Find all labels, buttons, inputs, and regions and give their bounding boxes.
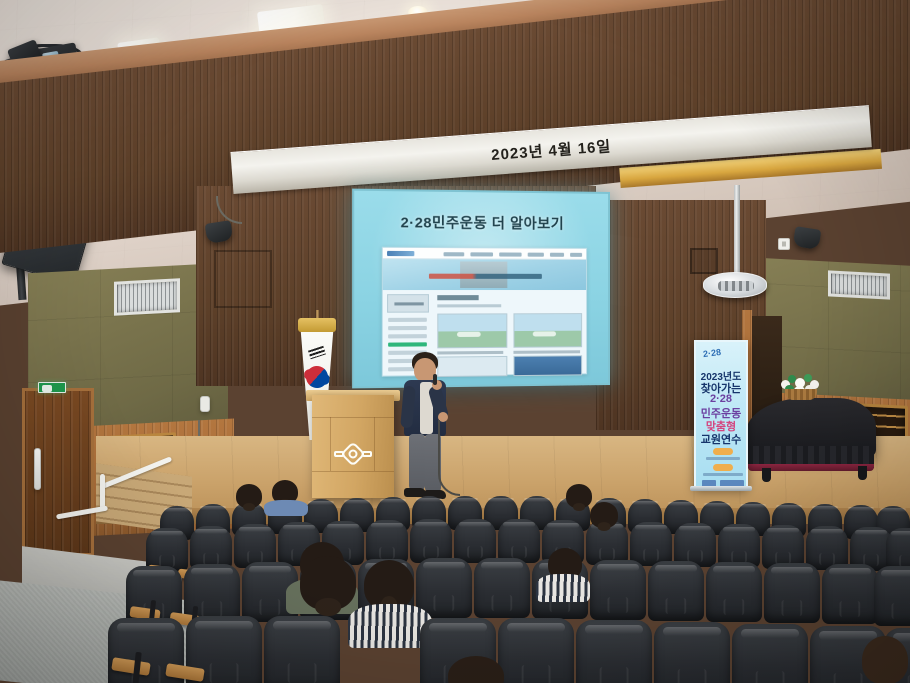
seat[interactable]	[654, 622, 730, 683]
standee-banner: 2·28 2023년도 찾아가는 2·28 민주운동 맞춤형 교원연수	[694, 340, 748, 488]
site-nav-item	[444, 252, 465, 256]
audience-shoulders	[264, 500, 308, 516]
site-hero-banner	[383, 259, 586, 290]
hero-headline	[429, 274, 542, 279]
side-door-left[interactable]	[22, 388, 94, 556]
presenter-leg-left	[409, 434, 425, 490]
site-sidebar-item	[388, 318, 427, 322]
site-bottom-card	[513, 355, 582, 376]
banner-mark: 2·28	[702, 347, 721, 359]
site-breadcrumb	[437, 304, 501, 307]
banner-line-3: 2·28	[696, 393, 746, 405]
banner-info-line	[703, 473, 743, 476]
site-sidebar-card	[387, 294, 429, 313]
audience-member	[236, 484, 262, 508]
seat[interactable]	[410, 519, 452, 563]
seat[interactable]	[590, 560, 646, 620]
banner-label-pill	[713, 464, 733, 471]
banner-info-line	[706, 457, 740, 460]
seat[interactable]	[474, 558, 530, 618]
microphone-cord	[438, 420, 460, 496]
site-logo-icon	[387, 251, 414, 256]
site-nav-item	[470, 252, 493, 256]
audience-member	[566, 484, 592, 508]
projection-screen: 2·28민주운동 더 알아보기	[352, 189, 610, 389]
site-content-heading	[437, 295, 478, 300]
flag-fringe	[298, 318, 336, 332]
banner-line-6: 교원연수	[696, 431, 746, 447]
podium-emblem-icon	[334, 443, 372, 465]
site-nav-item	[499, 252, 521, 256]
wall-outlet[interactable]	[778, 238, 790, 250]
audience-member	[590, 502, 618, 528]
podium-seam	[330, 417, 331, 471]
ceiling-projector	[703, 272, 767, 298]
wall-access-panel	[690, 248, 718, 274]
stair-handrail-post[interactable]	[100, 474, 105, 510]
seat[interactable]	[416, 558, 472, 618]
hvac-vent-left	[114, 278, 180, 315]
seat[interactable]	[648, 561, 704, 621]
flower-basket	[779, 372, 823, 400]
wall-bracket	[200, 396, 210, 412]
projector-mount-pole	[734, 185, 740, 275]
audience-member-foreground	[862, 636, 908, 683]
seat[interactable]	[498, 519, 540, 563]
site-nav-item	[528, 253, 544, 257]
podium	[312, 395, 394, 498]
seat[interactable]	[454, 519, 496, 563]
slide-title: 2·28민주운동 더 알아보기	[354, 211, 608, 234]
seat[interactable]	[706, 562, 762, 622]
wall-seam-vertical	[214, 250, 272, 308]
flag-trigram	[308, 346, 326, 360]
exit-sign	[38, 382, 66, 393]
standee-base	[690, 486, 752, 491]
piano-caster	[858, 466, 867, 480]
site-thumbnail-caption	[513, 350, 580, 354]
audience-member	[364, 560, 414, 610]
banner-label-pill	[713, 448, 733, 455]
audience-member-foreground	[448, 656, 504, 683]
seat[interactable]	[874, 566, 910, 626]
site-navbar	[383, 248, 586, 260]
auditorium-photo: 2023년 4월 16일 2·28민주운동 더 알아보기	[0, 0, 910, 683]
seat[interactable]	[822, 564, 878, 624]
site-sidebar-item	[388, 334, 427, 338]
piano-caster	[762, 468, 771, 482]
wall-speaker-right	[793, 226, 822, 250]
basket-weave	[785, 389, 817, 400]
podium-seam	[312, 417, 394, 418]
site-sidebar-item-active	[388, 342, 427, 346]
site-nav-item	[550, 253, 564, 257]
site-thumbnail	[437, 313, 507, 348]
flag-taeguk-icon	[302, 362, 332, 392]
audience-shoulders	[536, 574, 590, 602]
seat[interactable]	[366, 520, 408, 564]
seat[interactable]	[264, 616, 340, 683]
date-banner-text: 2023년 4월 16일	[490, 135, 611, 165]
seat[interactable]	[764, 563, 820, 623]
site-thumbnail	[513, 313, 582, 348]
site-sidebar-item	[388, 326, 427, 330]
podium-seam	[374, 417, 375, 471]
seat[interactable]	[576, 620, 652, 683]
hvac-vent-right	[828, 270, 890, 299]
seat[interactable]	[732, 624, 808, 683]
audience-member-foreground	[300, 556, 356, 610]
emblem-core	[349, 450, 358, 459]
microphone[interactable]	[433, 374, 437, 385]
door-push-bar[interactable]	[34, 448, 41, 490]
seat[interactable]	[498, 618, 574, 683]
site-nav-item	[570, 253, 582, 257]
podium-seam	[312, 471, 394, 472]
